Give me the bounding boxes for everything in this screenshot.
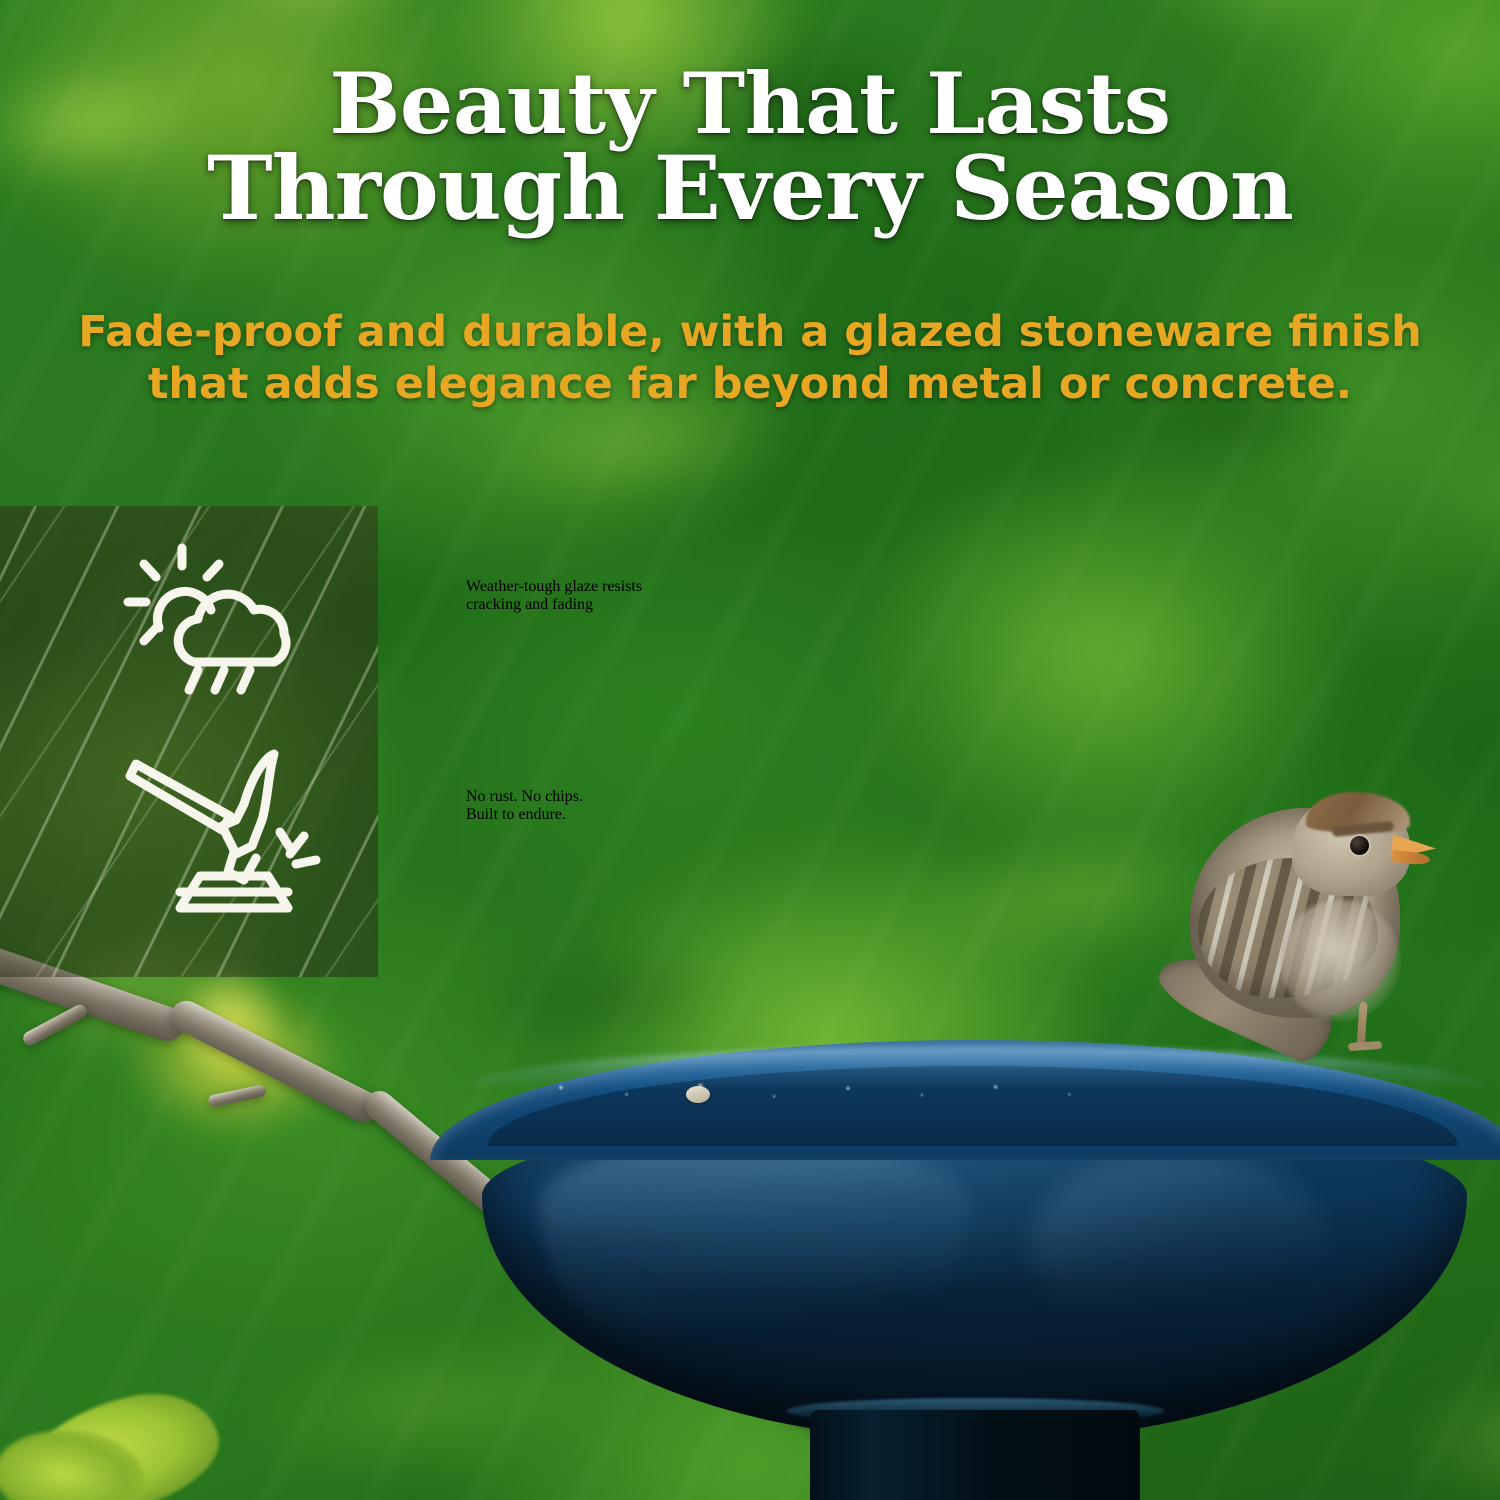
subtitle-line-1: Fade-proof and durable, with a glazed st… [44,306,1456,358]
pebble [686,1086,710,1103]
bird-foot [1348,1041,1382,1051]
bird-breast [1280,900,1400,1020]
headline-line-2: Through Every Season [40,145,1460,232]
promo-image-canvas: Beauty That Lasts Through Every Season F… [0,0,1500,1500]
birdbath-pedestal [810,1410,1140,1500]
bird-eye [1350,836,1369,855]
birdbath-product [430,1040,1500,1500]
subtitle-line-2: that adds elegance far beyond metal or c… [44,358,1456,410]
feature-weather-line-1: Weather-tough glaze resists [466,578,1226,596]
hammer-anvil-icon [118,748,358,918]
feature-weather-text: Weather-tough glaze resists cracking and… [466,578,1226,614]
headline: Beauty That Lasts Through Every Season [0,62,1500,232]
feature-weather-line-2: cracking and fading [466,596,1226,614]
headline-line-1: Beauty That Lasts [40,62,1460,145]
feature-durable-line-1: No rust. No chips. [466,788,1226,806]
feature-durable-line-2: Built to endure. [466,806,1226,824]
sun-cloud-rain-icon [118,540,358,710]
sparrow-bird [1160,780,1450,1080]
bowl-glaze-sheen-2 [1030,1150,1330,1340]
subtitle: Fade-proof and durable, with a glazed st… [0,306,1500,411]
feature-durable-text: No rust. No chips. Built to endure. [466,788,1226,824]
